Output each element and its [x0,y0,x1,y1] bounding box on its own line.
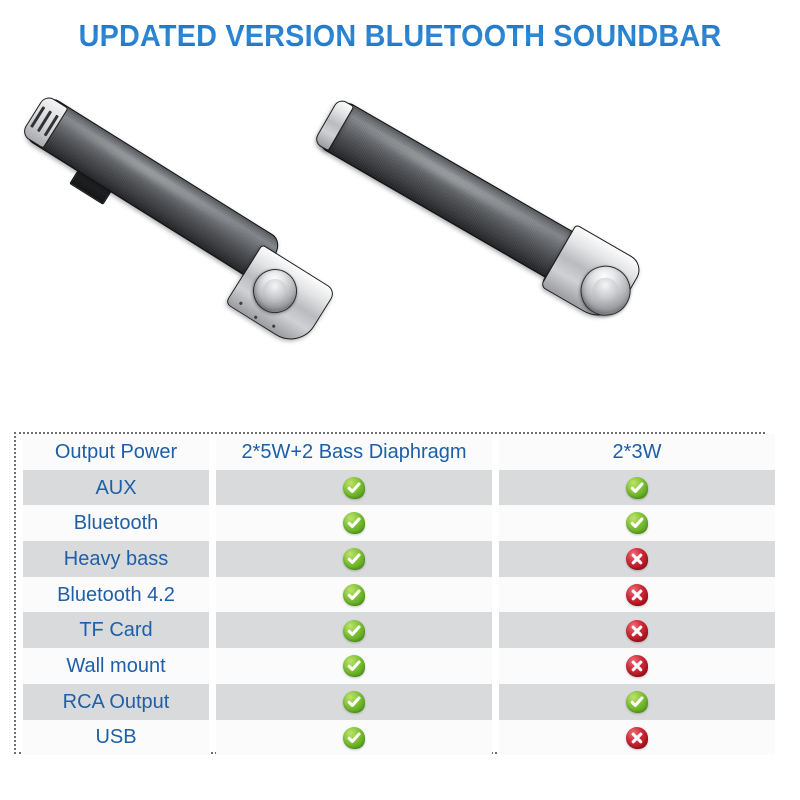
table-row: Heavy bass [23,541,775,577]
support-cell-model_a [216,684,492,720]
feature-name-label: USB [23,727,209,747]
table-row: Bluetooth [23,505,775,541]
feature-name-label: AUX [23,478,209,498]
support-cell-model_a [216,648,492,684]
check-badge-icon [343,584,365,606]
comparison-table: Output Power2*5W+2 Bass Diaphragm2*3WAUX… [14,432,765,754]
support-cell-model_b [499,720,775,756]
product-image-area [0,70,800,410]
check-badge-icon [626,691,648,713]
feature-name-label: Bluetooth [23,513,209,533]
body-outline [315,98,593,290]
column-header-label: 2*3W [499,442,775,462]
feature-name-label: RCA Output [23,692,209,712]
support-cell-model_b [499,612,775,648]
support-cell-model_b [499,541,775,577]
check-badge-icon [343,512,365,534]
feature-name-cell: TF Card [23,612,209,648]
table-row: TF Card [23,612,775,648]
cross-badge-icon [626,620,648,642]
feature-name-cell: Bluetooth [23,505,209,541]
table-header-row: Output Power2*5W+2 Bass Diaphragm2*3W [23,434,775,470]
feature-name-cell: USB [23,720,209,756]
check-badge-icon [343,691,365,713]
check-badge-icon [626,477,648,499]
feature-name-label: Heavy bass [23,549,209,569]
feature-name-cell: Heavy bass [23,541,209,577]
body-outline [22,94,284,284]
feature-name-label: Bluetooth 4.2 [23,585,209,605]
support-cell-model_a [216,612,492,648]
support-cell-model_b [499,577,775,613]
table-row: RCA Output [23,684,775,720]
support-cell-model_a [216,541,492,577]
product-image-soundbar-right [340,76,710,346]
soundbar-body [315,98,593,290]
feature-name-cell: Wall mount [23,648,209,684]
column-header-model_a: 2*5W+2 Bass Diaphragm [216,434,492,470]
support-cell-model_b [499,648,775,684]
check-badge-icon [626,512,648,534]
support-cell-model_b [499,684,775,720]
table-row: Wall mount [23,648,775,684]
table-row: AUX [23,470,775,506]
soundbar-body [22,94,284,284]
page-title: UPDATED VERSION BLUETOOTH SOUNDBAR [28,18,772,54]
table-row: USB [23,720,775,756]
spec-comparison-grid: Output Power2*5W+2 Bass Diaphragm2*3WAUX… [16,434,782,755]
feature-name-label: TF Card [23,620,209,640]
column-header-feature: Output Power [23,434,209,470]
table-row: Bluetooth 4.2 [23,577,775,613]
feature-name-cell: RCA Output [23,684,209,720]
cross-badge-icon [626,548,648,570]
support-cell-model_a [216,720,492,756]
check-badge-icon [343,477,365,499]
support-cell-model_b [499,470,775,506]
feature-name-cell: AUX [23,470,209,506]
support-cell-model_b [499,505,775,541]
cross-badge-icon [626,727,648,749]
check-badge-icon [343,727,365,749]
support-cell-model_a [216,505,492,541]
support-cell-model_a [216,470,492,506]
feature-name-label: Wall mount [23,656,209,676]
support-cell-model_a [216,577,492,613]
driver-inner-ring [587,272,624,309]
cross-badge-icon [626,655,648,677]
check-badge-icon [343,548,365,570]
cross-badge-icon [626,584,648,606]
knob-inner-ring [259,275,291,307]
check-badge-icon [343,620,365,642]
column-header-label: 2*5W+2 Bass Diaphragm [216,442,492,462]
column-header-label: Output Power [23,442,209,462]
feature-name-cell: Bluetooth 4.2 [23,577,209,613]
check-badge-icon [343,655,365,677]
column-header-model_b: 2*3W [499,434,775,470]
